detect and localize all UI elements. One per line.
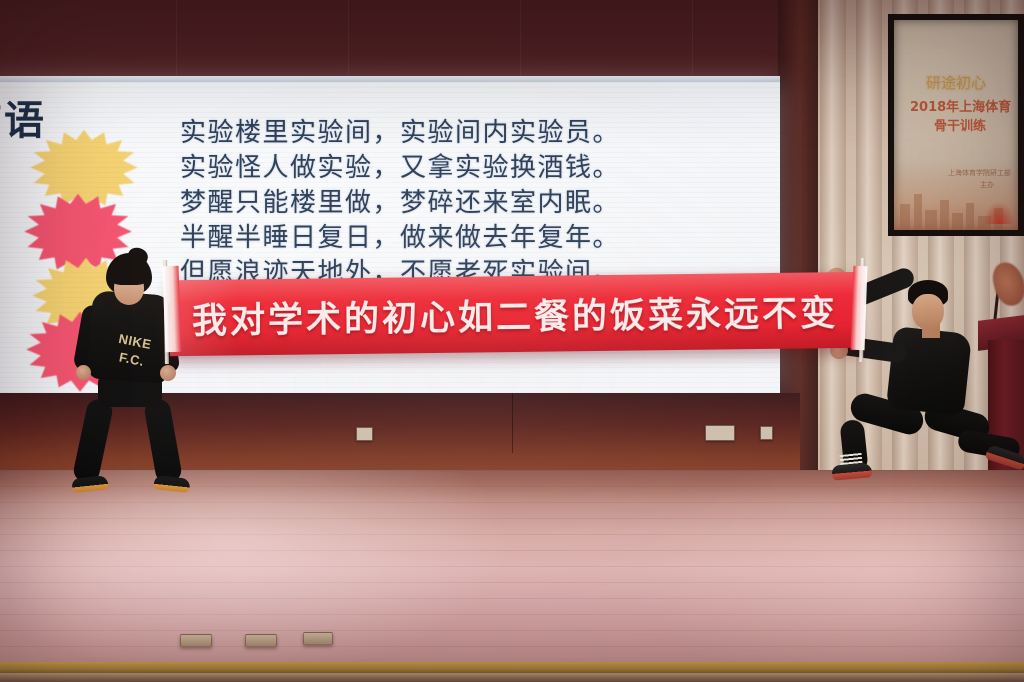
- performer-left-leg: [143, 397, 183, 484]
- wall-outlet-plate[interactable]: [705, 425, 735, 441]
- slide-line: 半醒半睡日复日，做来做去年复年。: [180, 221, 700, 256]
- secondary-slide-title: 研途初心: [926, 72, 986, 93]
- stage-photo-scene: 结语 实验楼里实验间，实验间内实验员。 实验怪人做实验，又拿实验换酒钱。 梦醒只…: [0, 0, 1024, 682]
- slide-line: 梦醒只能楼里做，梦碎还来室内眠。: [180, 186, 700, 221]
- floor-outlet-plate[interactable]: [245, 634, 277, 647]
- floor-reflection: [635, 470, 1024, 682]
- performer-right-face: [912, 294, 944, 330]
- secondary-slide-line-1: 2018年上海体育: [910, 96, 1011, 115]
- performer-right-torso: [886, 326, 972, 416]
- banner-left-edge-highlight: [163, 266, 182, 353]
- floor-outlet-plate[interactable]: [303, 632, 333, 645]
- secondary-slide-line-4: 主办: [980, 180, 994, 190]
- slide-line: 实验楼里实验间，实验间内实验员。: [180, 116, 700, 151]
- red-banner-group: 我对学术的初心如二餐的饭菜永远不变: [160, 258, 870, 368]
- secondary-slide-line-2: 骨干训练: [934, 115, 986, 134]
- performer-left-hand: [76, 365, 91, 380]
- projection-screen-secondary: 研途初心 2018年上海体育 骨干训练 上海体育学院研工部 主办: [888, 14, 1024, 236]
- performer-left-shoe: [153, 475, 190, 493]
- slide-sun-graphic: [984, 202, 1014, 224]
- performer-left-shoe: [71, 475, 108, 493]
- red-banner: 我对学术的初心如二餐的饭菜永远不变: [170, 272, 861, 356]
- banner-right-edge-highlight: [851, 266, 868, 350]
- stage-front-face: [0, 673, 1024, 682]
- secondary-slide-line-3: 上海体育学院研工部: [948, 168, 1011, 178]
- wall-panel-seam: [512, 393, 513, 453]
- banner-text: 我对学术的初心如二餐的饭菜永远不变: [170, 272, 861, 356]
- performer-left-hair-fringe: [110, 269, 148, 285]
- wall-outlet-plate[interactable]: [760, 426, 773, 440]
- slide-line: 实验怪人做实验，又拿实验换酒钱。: [180, 151, 700, 186]
- wall-outlet-plate[interactable]: [356, 427, 373, 441]
- performer-left-leg: [72, 397, 115, 485]
- floor-outlet-plate[interactable]: [180, 634, 212, 647]
- performer-right-shoe: [831, 462, 872, 480]
